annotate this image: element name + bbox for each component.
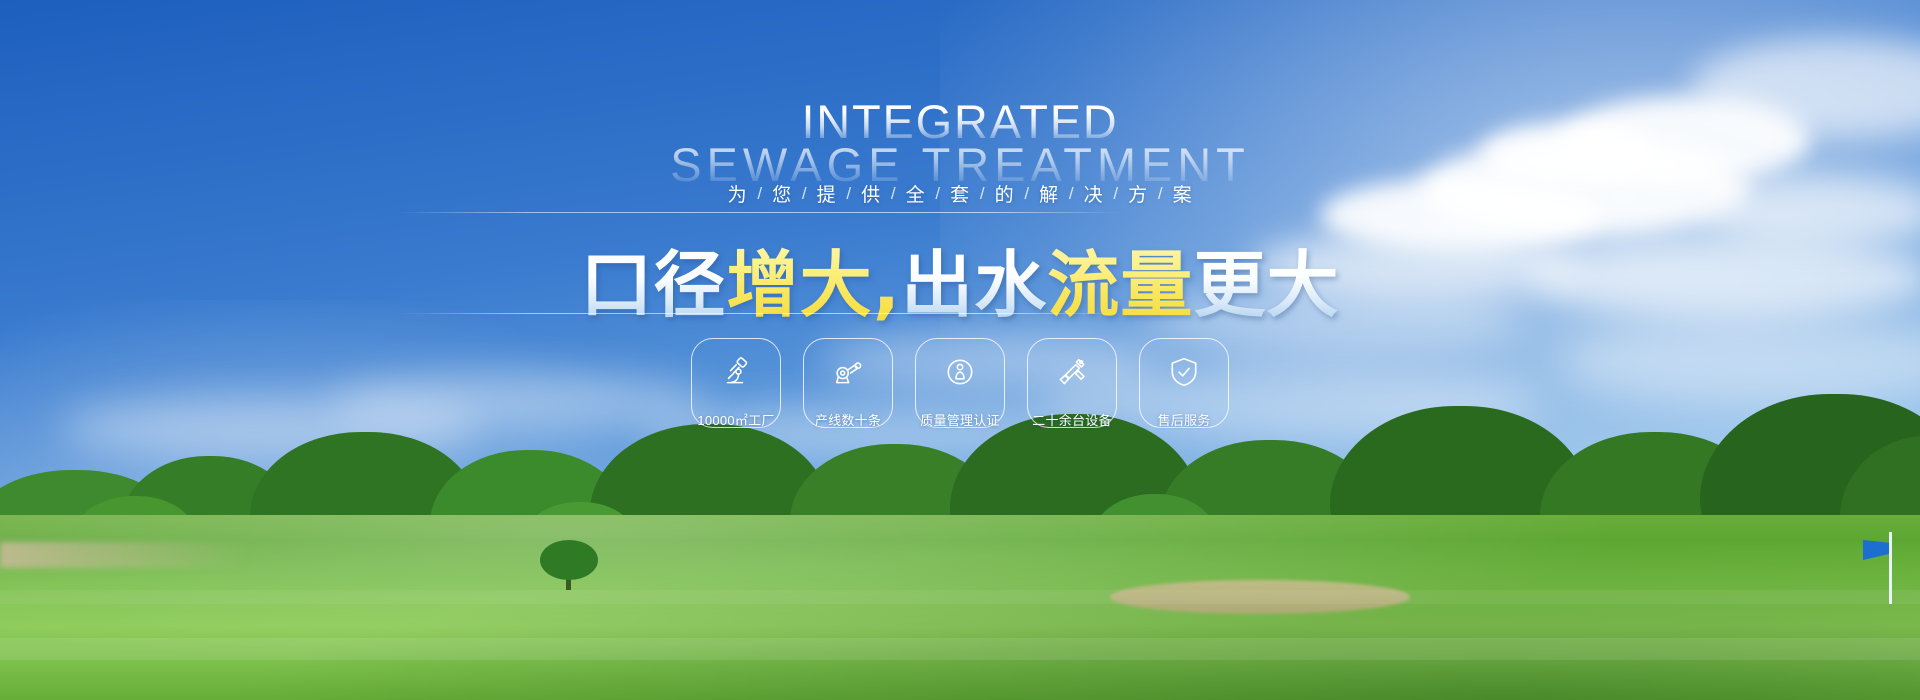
headline-segment: ,	[873, 243, 901, 327]
pump-motor-icon	[831, 355, 865, 389]
tagline-separator: /	[1112, 184, 1119, 204]
feature-badge-label: 二十余台设备	[1032, 410, 1112, 429]
feature-badge[interactable]: 10000㎡工厂	[691, 338, 781, 428]
feature-badge-list: 10000㎡工厂产线数十条质量管理认证二十余台设备售后服务	[0, 338, 1920, 428]
tagline: 为/您/提/供/全/套/的/解/决/方/案	[0, 180, 1920, 207]
tagline-separator: /	[890, 184, 897, 204]
tagline-separator: /	[845, 184, 852, 204]
tagline-char: 的	[986, 180, 1024, 207]
headline-segment: 增大	[727, 243, 873, 327]
banner-content: INTEGRATED SEWAGE TREATMENT 为/您/提/供/全/套/…	[0, 0, 1920, 700]
tagline-char: 解	[1030, 180, 1068, 207]
microscope-icon	[719, 355, 753, 389]
tagline-char: 为	[719, 180, 757, 207]
headline-segment: 口径	[580, 243, 726, 327]
tagline-char: 您	[763, 180, 801, 207]
feature-badge[interactable]: 质量管理认证	[915, 338, 1005, 428]
tagline-separator: /	[801, 184, 808, 204]
tagline-char: 案	[1164, 180, 1202, 207]
hero-banner: INTEGRATED SEWAGE TREATMENT 为/您/提/供/全/套/…	[0, 0, 1920, 700]
tagline-separator: /	[756, 184, 763, 204]
feature-badge[interactable]: 二十余台设备	[1027, 338, 1117, 428]
feature-badge-label: 售后服务	[1157, 410, 1210, 429]
page-title: 口径增大,出水流量更大	[0, 226, 1920, 331]
feature-badge-label: 产线数十条	[815, 410, 881, 429]
tagline-separator: /	[1023, 184, 1030, 204]
wrench-tools-icon	[1055, 355, 1089, 389]
tagline-separator: /	[1157, 184, 1164, 204]
tagline-separator: /	[934, 184, 941, 204]
shield-check-icon	[1167, 355, 1201, 389]
divider-bottom	[399, 313, 1121, 314]
headline-segment: 出水	[901, 243, 1047, 327]
tagline-separator: /	[979, 184, 986, 204]
tagline-char: 方	[1119, 180, 1157, 207]
tagline-char: 全	[897, 180, 935, 207]
tagline-char: 提	[808, 180, 846, 207]
feature-badge[interactable]: 产线数十条	[803, 338, 893, 428]
english-heading: INTEGRATED SEWAGE TREATMENT	[0, 98, 1920, 188]
tagline-char: 供	[852, 180, 890, 207]
divider-top	[399, 212, 1121, 213]
tagline-char: 决	[1075, 180, 1113, 207]
feature-badge[interactable]: 售后服务	[1139, 338, 1229, 428]
quality-certification-icon	[943, 355, 977, 389]
feature-badge-label: 质量管理认证	[920, 410, 1000, 429]
tagline-char: 套	[941, 180, 979, 207]
feature-badge-label: 10000㎡工厂	[697, 410, 774, 429]
tagline-separator: /	[1068, 184, 1075, 204]
headline-segment: 更大	[1193, 243, 1339, 327]
headline-segment: 流量	[1047, 243, 1193, 327]
